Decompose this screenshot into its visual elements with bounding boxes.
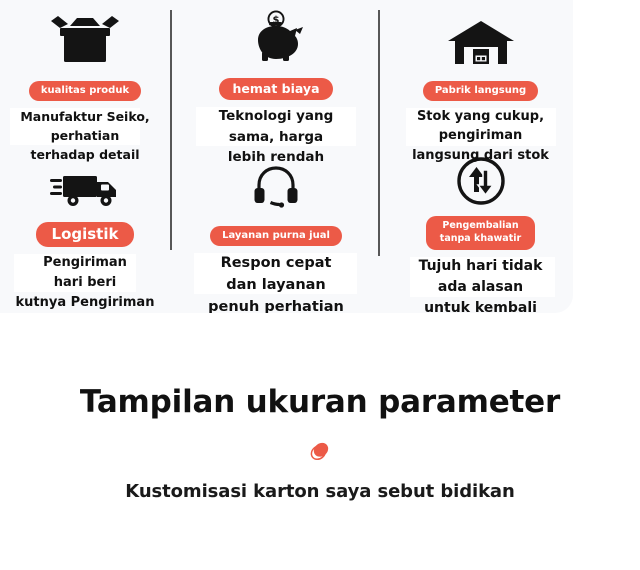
feature-text-kualitas-produk: Manufaktur Seiko, perhatian terhadap det… — [0, 107, 170, 164]
title-section: Tampilan ukuran parameter Kustomisasi ka… — [0, 385, 640, 502]
badge-logistik: Logistik — [0, 222, 170, 247]
feature-hemat-biaya[interactable]: $ hemat biaya Teknologi yang sama, harga… — [178, 8, 374, 168]
feature-pengembalian[interactable]: Pengembalian tanpa khawatir Tujuh hari t… — [388, 152, 573, 313]
feature-text-hemat-biaya: Teknologi yang sama, harga lebih rendah — [178, 106, 374, 168]
feature-text-pengembalian: Tujuh hari tidak ada alasan untuk kembal… — [388, 256, 573, 313]
feature-pabrik-langsung[interactable]: Pabrik langsung Stok yang cukup, pengiri… — [388, 8, 573, 166]
badge-hemat-biaya: hemat biaya — [178, 78, 374, 100]
feature-layanan-purna-jual[interactable]: Layanan purna jual Respon cepat dan laya… — [178, 155, 374, 313]
badge-label: hemat biaya — [219, 78, 332, 100]
badge-label: Logistik — [36, 222, 135, 247]
feature-text-pabrik-langsung: Stok yang cukup, pengiriman langsung dar… — [388, 107, 573, 166]
teardrop-ornament — [307, 438, 333, 464]
badge-label: Pengembalian tanpa khawatir — [426, 216, 535, 250]
column-divider-2 — [378, 10, 380, 256]
warehouse-icon — [388, 8, 573, 66]
page-root: kualitas produk Manufaktur Seiko, perhat… — [0, 0, 640, 570]
badge-pabrik-langsung: Pabrik langsung — [388, 78, 573, 101]
badge-layanan-purna-jual: Layanan purna jual — [178, 223, 374, 246]
badge-kualitas-produk: kualitas produk — [0, 78, 170, 101]
badge-label: kualitas produk — [29, 81, 141, 101]
badge-line-1: Pengembalian — [442, 220, 518, 231]
badge-label: Pabrik langsung — [423, 81, 538, 101]
delivery-truck-icon — [0, 160, 170, 210]
feature-card: kualitas produk Manufaktur Seiko, perhat… — [0, 0, 573, 313]
feature-logistik[interactable]: Logistik Pengiriman hari beri kutnya Pen… — [0, 160, 170, 313]
badge-label: Layanan purna jual — [210, 226, 342, 246]
badge-line-2: tanpa khawatir — [440, 233, 521, 244]
page-title: Tampilan ukuran parameter — [0, 385, 640, 419]
feature-text-logistik: Pengiriman hari beri kutnya Pengiriman t… — [0, 253, 170, 313]
open-box-icon — [0, 8, 170, 66]
piggy-bank-icon: $ — [178, 8, 374, 66]
feature-kualitas-produk[interactable]: kualitas produk Manufaktur Seiko, perhat… — [0, 8, 170, 164]
feature-text-layanan-purna-jual: Respon cepat dan layanan penuh perhatian — [178, 252, 374, 314]
column-divider-1 — [170, 10, 172, 250]
page-subtitle: Kustomisasi karton saya sebut bidikan — [0, 481, 640, 502]
badge-pengembalian: Pengembalian tanpa khawatir — [388, 216, 573, 250]
